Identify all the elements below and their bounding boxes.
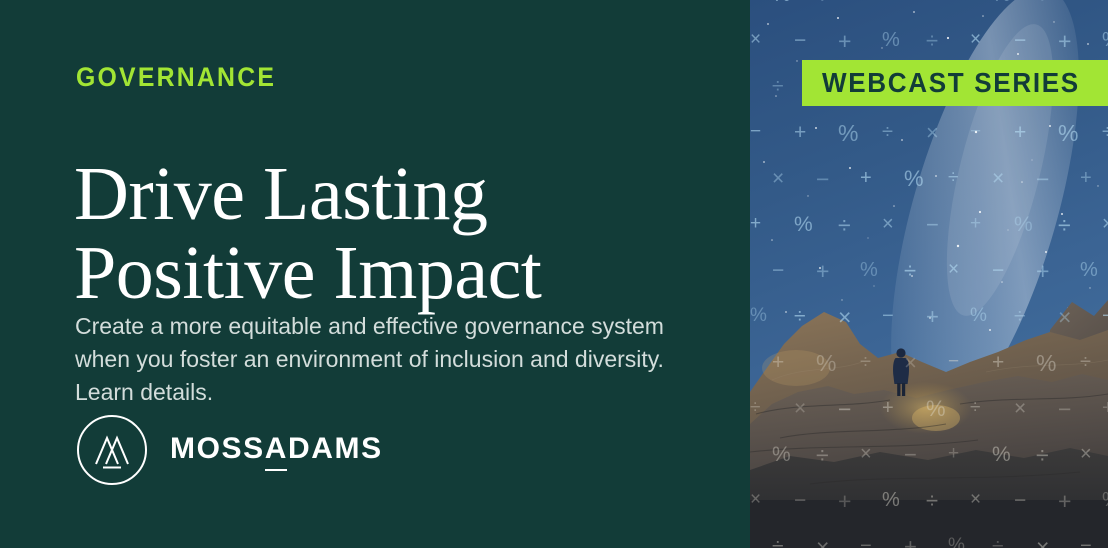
eyebrow-category-label: GOVERNANCE bbox=[76, 64, 276, 91]
moss-adams-logo[interactable]: MOSSADAMS bbox=[76, 414, 383, 486]
webcast-series-label: WEBCAST SERIES bbox=[822, 67, 1080, 99]
webcast-series-badge: WEBCAST SERIES bbox=[802, 60, 1108, 106]
page-title: Drive Lasting Positive Impact bbox=[74, 155, 714, 313]
moss-adams-circle-mountain-mark bbox=[76, 414, 148, 486]
wordmark-moss: MOSS bbox=[170, 432, 265, 465]
promotional-banner: GOVERNANCE Drive Lasting Positive Impact… bbox=[0, 0, 1108, 548]
wordmark-dams: DAMS bbox=[288, 432, 383, 465]
headline-line-1: Drive Lasting bbox=[74, 155, 714, 234]
headline-line-2: Positive Impact bbox=[74, 234, 714, 313]
wordmark-a-underlined: A bbox=[265, 434, 288, 464]
moss-adams-wordmark: MOSSADAMS bbox=[170, 434, 383, 466]
left-content-panel: GOVERNANCE Drive Lasting Positive Impact… bbox=[0, 0, 750, 548]
description-text: Create a more equitable and effective go… bbox=[75, 310, 675, 409]
